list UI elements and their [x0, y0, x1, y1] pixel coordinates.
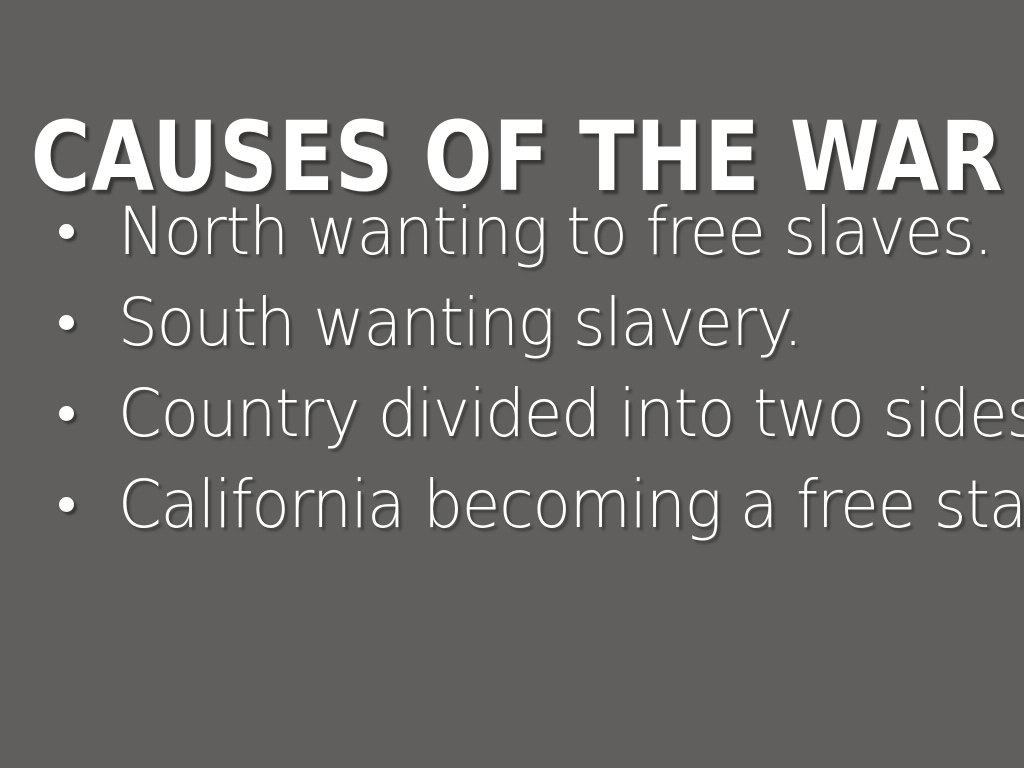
bullet-dot-icon [59, 315, 74, 330]
bullet-dot-icon [59, 224, 74, 239]
presentation-slide: CAUSES OF THE WAR North wanting to free … [0, 0, 1024, 768]
bullet-dot-icon [59, 406, 74, 421]
bullet-list: North wanting to free slaves. South want… [48, 186, 1008, 550]
list-item: California becoming a free state [48, 459, 1008, 550]
list-item-label: California becoming a free state [118, 468, 1024, 542]
slide-content: CAUSES OF THE WAR North wanting to free … [0, 0, 1024, 768]
list-item-label: North wanting to free slaves. [118, 195, 992, 269]
bullet-dot-icon [59, 497, 74, 512]
list-item: Country divided into two sides [48, 368, 1008, 459]
list-item: North wanting to free slaves. [48, 186, 1008, 277]
list-item-label: Country divided into two sides [118, 377, 1024, 451]
list-item: South wanting slavery. [48, 277, 1008, 368]
list-item-label: South wanting slavery. [118, 286, 802, 360]
